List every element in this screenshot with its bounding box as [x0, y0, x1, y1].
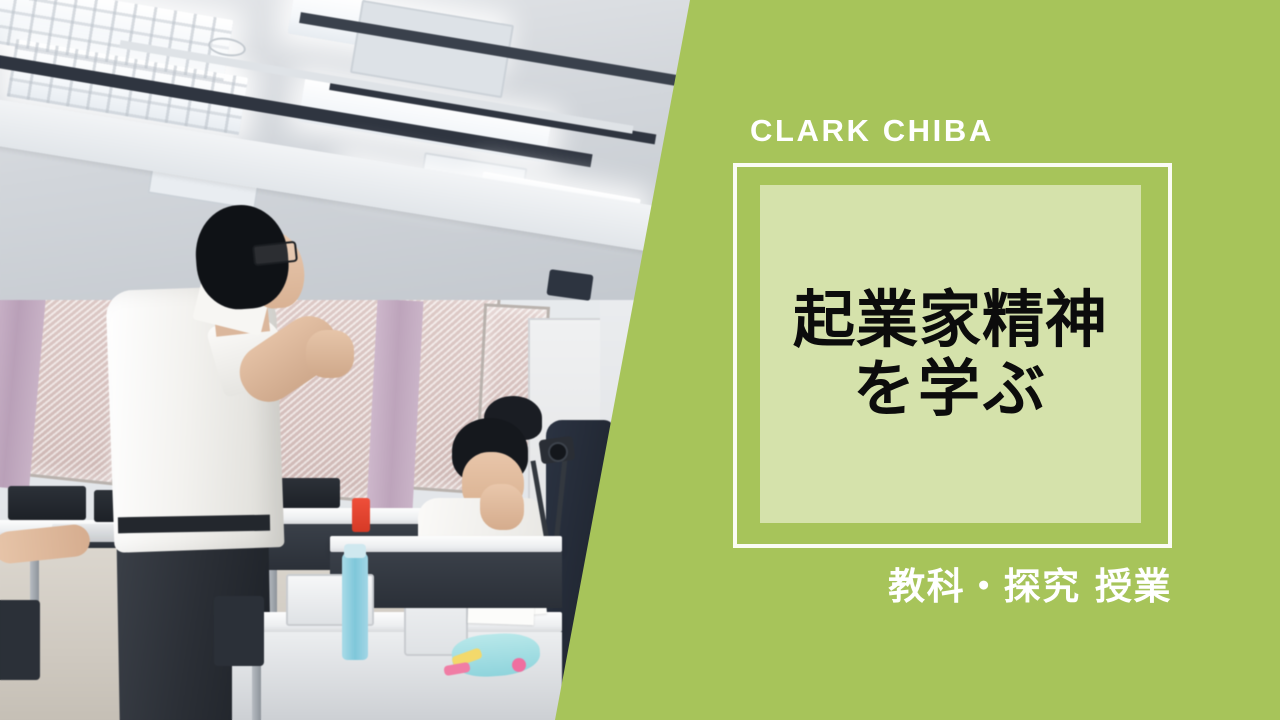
teacher-fist [306, 330, 354, 378]
brand-label: CLARK CHIBA [750, 113, 994, 149]
subtitle-label: 教科・探究 授業 [730, 556, 1172, 610]
title-line-1: 起業家精神 [793, 285, 1108, 354]
laptop [8, 486, 86, 520]
water-bottle [342, 552, 368, 660]
student-clasped-hands [480, 484, 524, 530]
thumbnail-canvas: CLARK CHIBA 起業家精神 を学ぶ 教科・探究 授業 [0, 0, 1280, 720]
teacher-belt [118, 515, 270, 534]
chair [0, 600, 40, 680]
red-bottle [352, 498, 370, 532]
camera-lens-icon [548, 442, 568, 462]
plush-detail [512, 658, 526, 672]
chair [214, 596, 264, 666]
bottle-cap [344, 544, 366, 558]
title-panel: 起業家精神 を学ぶ [760, 185, 1141, 523]
title-line-2: を学ぶ [853, 354, 1048, 423]
